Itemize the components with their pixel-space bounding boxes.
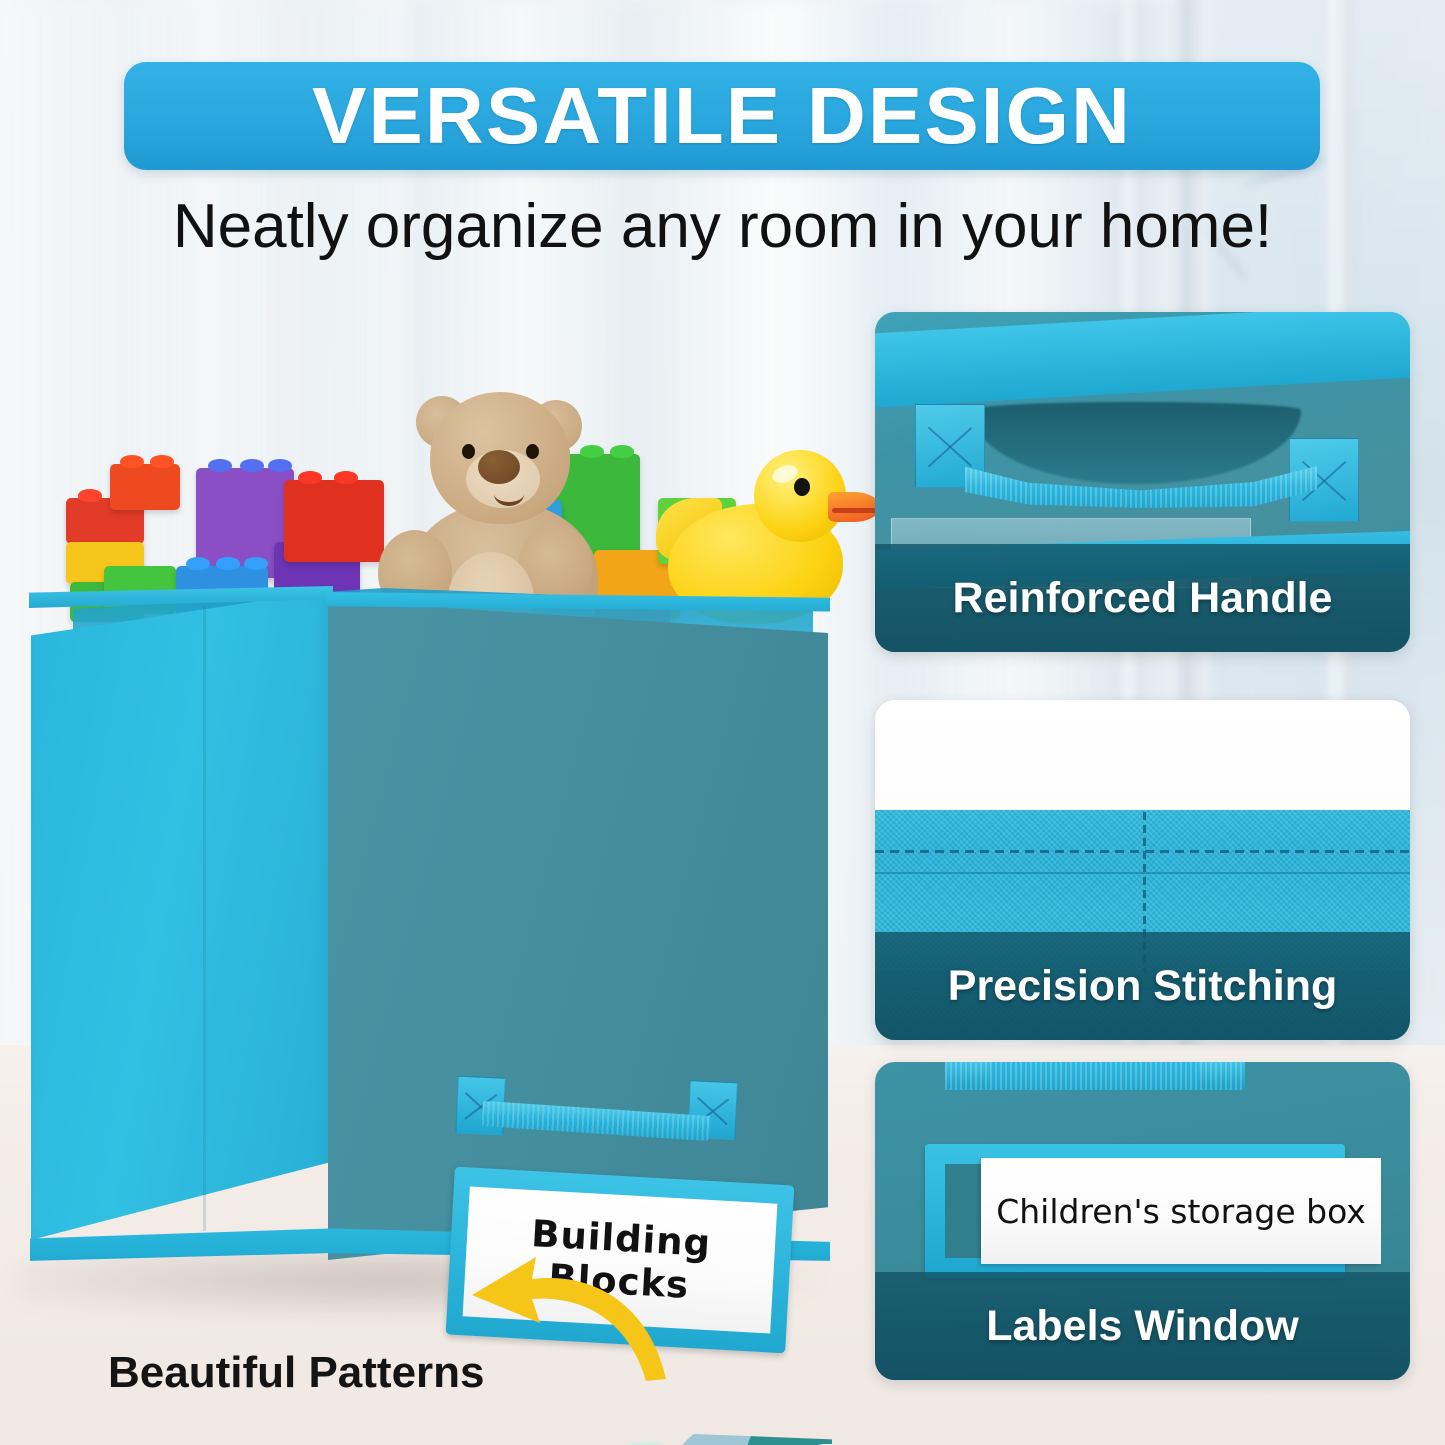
handle-stitch-tab-icon xyxy=(945,1062,991,1088)
panel-caption-band: Precision Stitching xyxy=(875,932,1410,1040)
block-red xyxy=(284,480,384,562)
handle-groove xyxy=(971,402,1301,484)
handle-closeup xyxy=(945,1062,1245,1090)
feature-panel-labels-window[interactable]: Children's storage box Labels Window xyxy=(875,1062,1410,1380)
beautiful-patterns-caption: Beautiful Patterns xyxy=(108,1348,485,1398)
label-insert-text: Children's storage box xyxy=(996,1192,1366,1231)
panel-background xyxy=(875,700,1410,818)
label-insert-card[interactable]: Children's storage box xyxy=(981,1158,1381,1264)
arrow-icon xyxy=(470,1255,670,1385)
feature-panel-reinforced-handle[interactable]: Reinforced Handle xyxy=(875,312,1410,652)
feature-panel-precision-stitching[interactable]: Precision Stitching xyxy=(875,700,1410,1040)
bear-eye xyxy=(462,444,475,459)
bear-eye xyxy=(526,444,539,459)
block-orange xyxy=(110,464,180,510)
panel-caption-band: Labels Window xyxy=(875,1272,1410,1380)
handle-stitch-tab-icon xyxy=(1199,1062,1245,1088)
panel-caption-text: Precision Stitching xyxy=(948,962,1337,1011)
panel-caption-band: Reinforced Handle xyxy=(875,544,1410,652)
handle-closeup xyxy=(899,400,1369,530)
duck-beak xyxy=(828,492,880,522)
handle-strap xyxy=(481,1101,710,1141)
bin-left-panel xyxy=(31,590,331,1240)
hero-product: Building Blocks xyxy=(18,370,848,1320)
bear-mouth xyxy=(494,482,524,506)
bin-crease xyxy=(203,606,206,1231)
subheadline-text: Neatly organize any room in your home! xyxy=(0,196,1445,258)
bin-handle xyxy=(454,1072,738,1171)
product-infographic: VERSATILE DESIGN Neatly organize any roo… xyxy=(0,0,1445,1445)
bear-nose xyxy=(478,450,520,484)
pointer-arrow xyxy=(470,1255,670,1385)
panel-caption-text: Labels Window xyxy=(986,1302,1299,1351)
headline-banner: VERSATILE DESIGN xyxy=(124,62,1320,170)
duck-beak-line xyxy=(832,508,876,513)
duck-eye xyxy=(794,478,810,496)
panel-caption-text: Reinforced Handle xyxy=(953,574,1333,623)
headline-text: VERSATILE DESIGN xyxy=(312,76,1132,156)
